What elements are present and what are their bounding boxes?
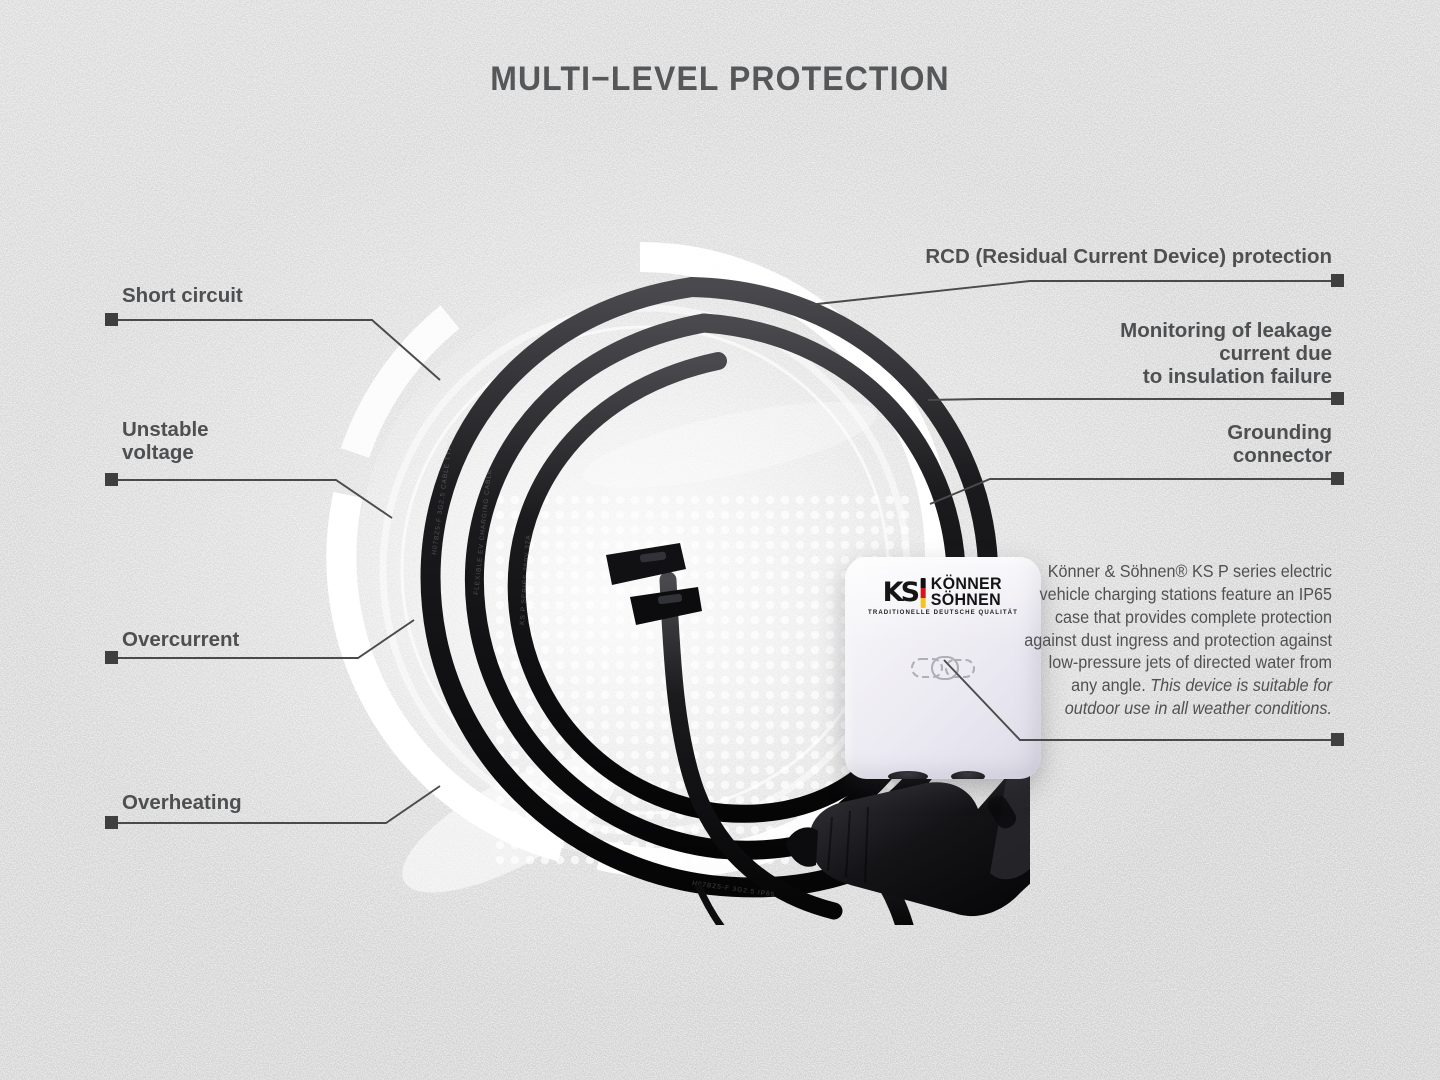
cable-port-right xyxy=(951,771,985,779)
page-title: MULTI−LEVEL PROTECTION xyxy=(43,60,1397,99)
callout-leakage-monitoring: Monitoring of leakage current due to ins… xyxy=(912,319,1332,388)
ks-monogram-icon: KS xyxy=(883,577,917,608)
brand-name-line2: SÖHNEN xyxy=(931,593,1002,609)
callout-overheating: Overheating xyxy=(122,791,242,814)
callout-overcurrent: Overcurrent xyxy=(122,628,239,651)
german-flag-icon xyxy=(921,578,926,608)
callout-unstable-voltage: Unstable voltage xyxy=(122,418,209,464)
callout-rcd-protection: RCD (Residual Current Device) protection xyxy=(772,245,1332,268)
callout-grounding-connector: Grounding connector xyxy=(972,421,1332,467)
callout-short-circuit: Short circuit xyxy=(122,284,243,307)
cable-port-left xyxy=(888,771,928,779)
infographic-canvas: MULTI−LEVEL PROTECTION xyxy=(0,0,1440,1080)
brand-tagline: TRADITIONELLE DEUTSCHE QUALITÄT xyxy=(868,609,1018,616)
chain-links-icon xyxy=(910,653,976,683)
charging-station-unit: KS KÖNNER SÖHNEN TRADITIONELLE DEUTSCHE … xyxy=(845,557,1041,779)
product-description: Könner & Söhnen® KS P series electric ve… xyxy=(1019,560,1332,720)
brand-logo: KS KÖNNER SÖHNEN xyxy=(883,577,1004,608)
product-photo: H07BZ5-F 3G2.5 CABLE TYPE2 FLEXIBLE EV C… xyxy=(300,195,1030,925)
